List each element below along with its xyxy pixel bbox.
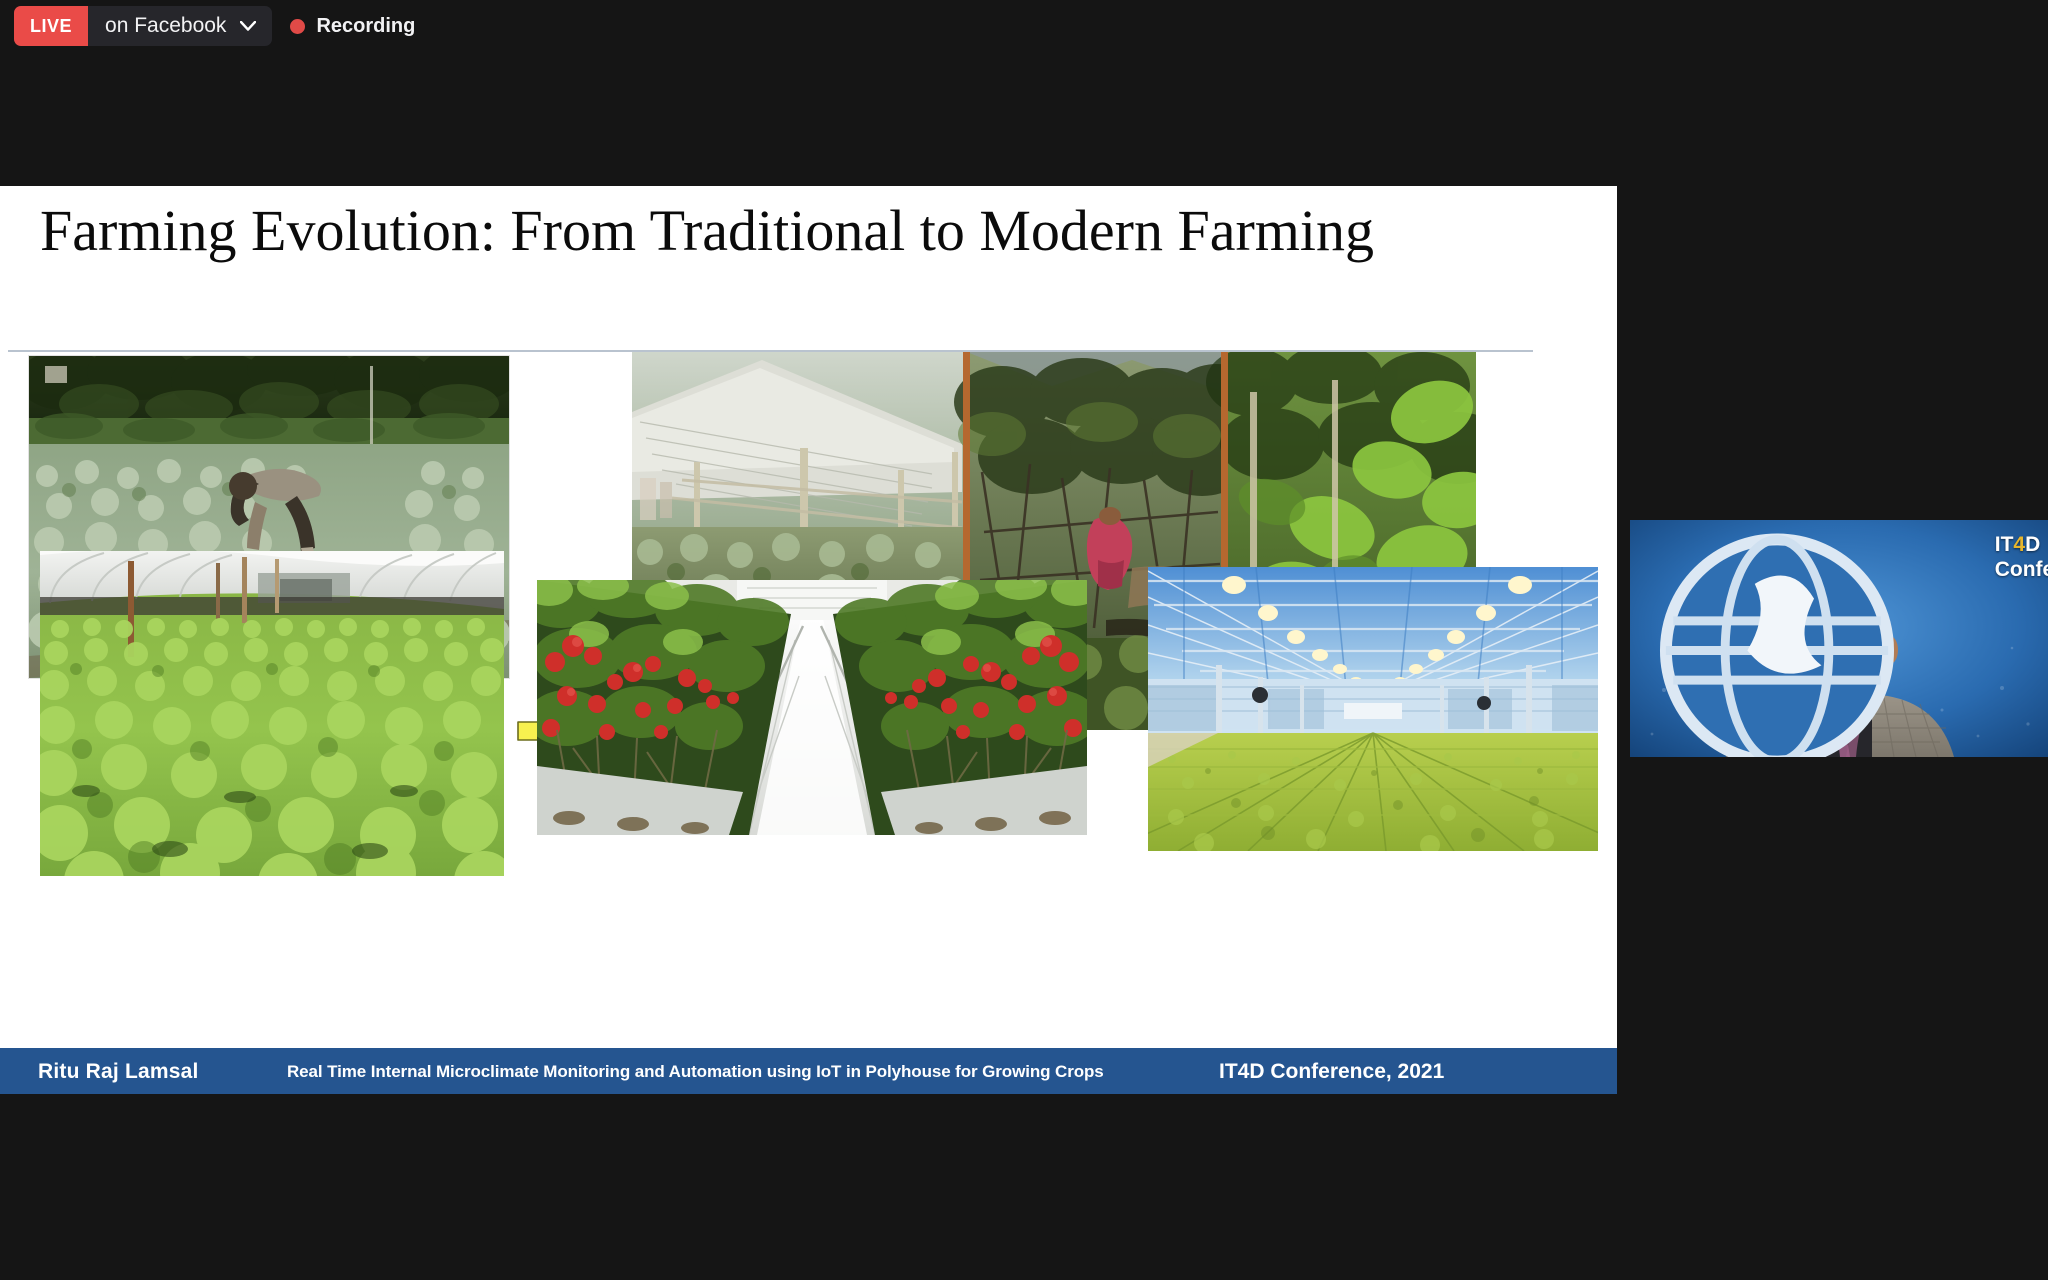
shared-slide[interactable]: Farming Evolution: From Traditional to M… [0, 186, 1617, 1094]
live-platform-label: on Facebook [88, 6, 236, 46]
banner-author: Ritu Raj Lamsal [38, 1060, 199, 1084]
industrial-greenhouse-photo [1148, 567, 1598, 851]
live-stream-bar: LIVE on Facebook Recording [14, 6, 415, 46]
live-badge: LIVE [14, 6, 88, 46]
participant-video-tile[interactable]: IT4D Conference [1630, 520, 2048, 757]
participant-video-frame [1630, 520, 2048, 757]
slide-title: Farming Evolution: From Traditional to M… [40, 200, 1560, 262]
recording-label: Recording [316, 15, 415, 38]
banner-conference: IT4D Conference, 2021 [1219, 1060, 1444, 1084]
recording-dot-icon [290, 19, 305, 34]
live-destination-pill[interactable]: LIVE on Facebook [14, 6, 272, 46]
recording-status: Recording [290, 15, 415, 38]
slide-footer-banner: Ritu Raj Lamsal Real Time Internal Micro… [0, 1048, 1617, 1094]
greenhouse-lettuce-photo [40, 551, 504, 876]
chevron-down-icon[interactable] [236, 6, 272, 46]
tomato-greenhouse-photo [537, 580, 1087, 835]
banner-paper-title: Real Time Internal Microclimate Monitori… [287, 1062, 1104, 1082]
